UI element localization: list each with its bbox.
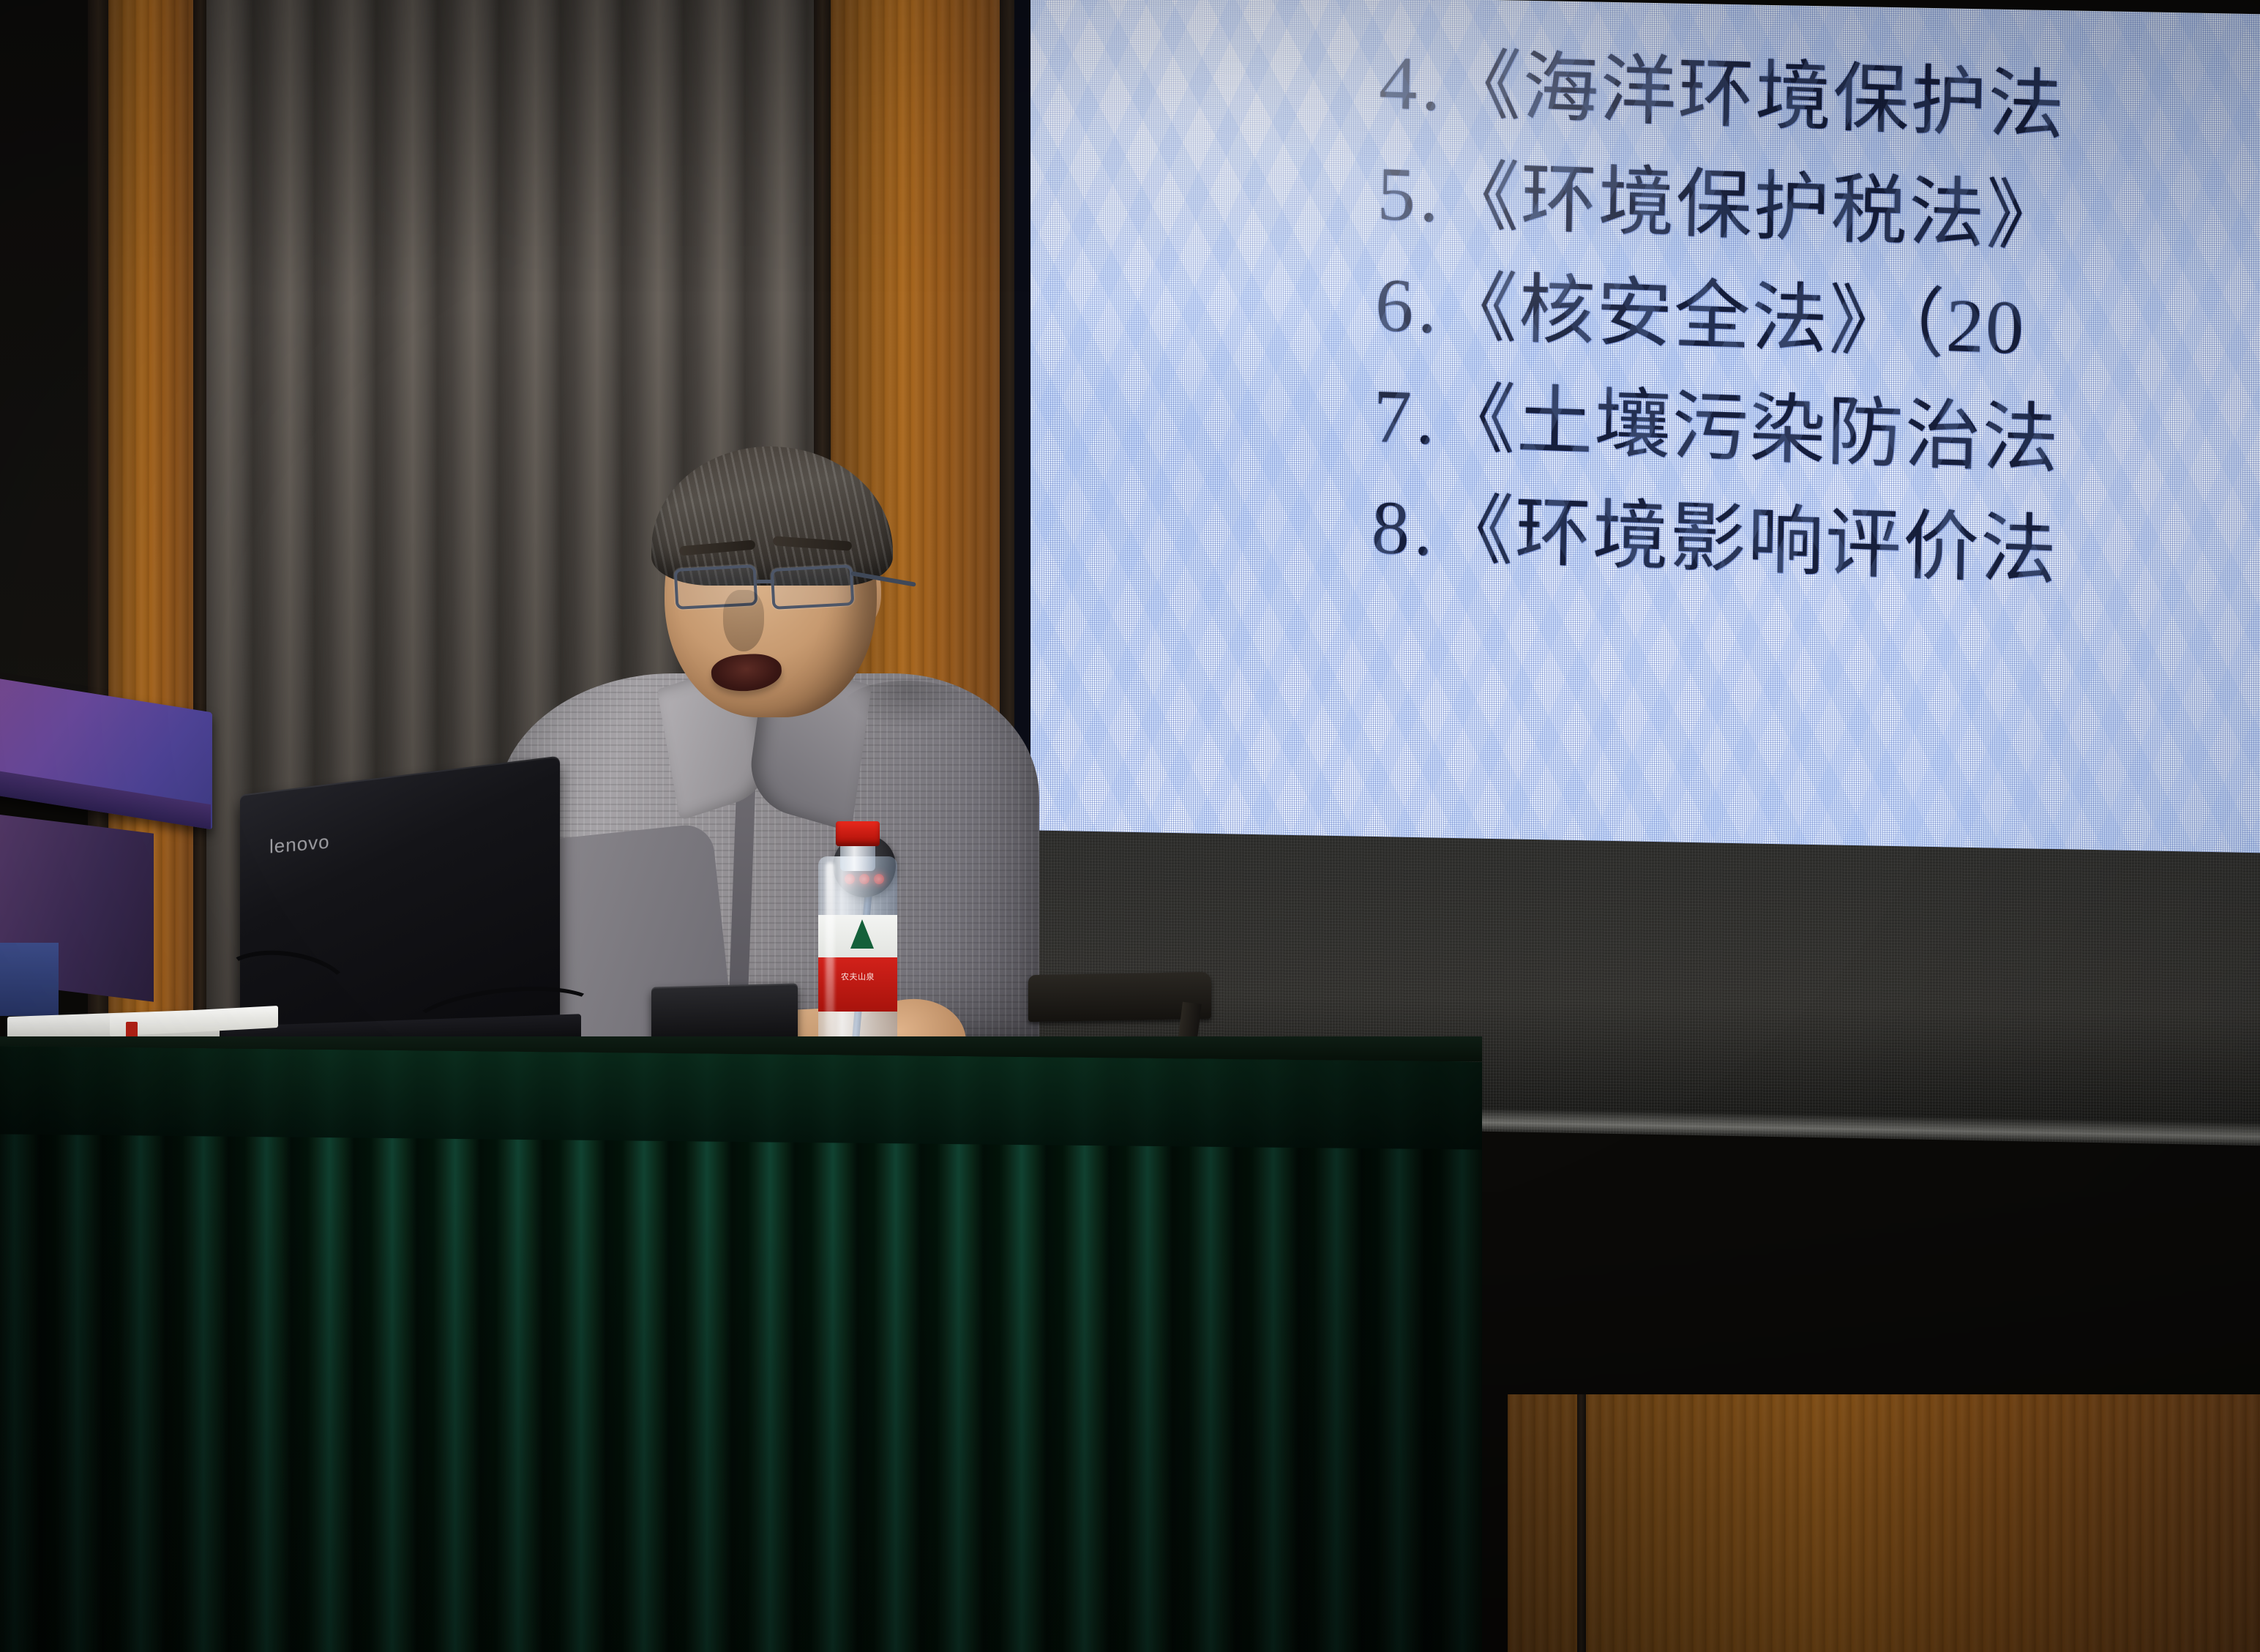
lectern xyxy=(0,694,227,1001)
bottle-cap xyxy=(836,821,880,846)
mountain-logo-icon xyxy=(850,919,874,949)
table-skirt xyxy=(0,1046,1482,1652)
bottle-highlight xyxy=(826,862,834,1045)
seated-speaker xyxy=(512,454,1039,1054)
slide-line-6-number: 6. xyxy=(1374,263,1442,349)
paper-clip-icon xyxy=(126,1022,138,1038)
eyeglasses-icon xyxy=(665,564,884,615)
chin-shadow xyxy=(845,681,969,728)
slide-line-4-number: 4. xyxy=(1379,40,1446,127)
slide-line-5-number: 5. xyxy=(1377,152,1444,238)
slide-line-3-number: 3. xyxy=(1380,0,1448,15)
wood-panel-lower-right xyxy=(1508,1394,2260,1652)
wall-seam-lower-right xyxy=(1577,1394,1586,1652)
speaker-nose xyxy=(723,590,764,651)
wall-shadow-left xyxy=(0,0,91,732)
eyeglass-lens-right xyxy=(771,564,855,610)
slide-content-list: 3. 4.《海洋环境保护法 5.《环境保护税法》 6.《核安全法》（20 7.《… xyxy=(1370,0,2260,643)
lecture-hall-scene: 3. 4.《海洋环境保护法 5.《环境保护税法》 6.《核安全法》（20 7.《… xyxy=(0,0,2260,1652)
slide-line-8-number: 8. xyxy=(1371,485,1438,572)
eyeglass-temple xyxy=(850,571,916,587)
eyeglass-bridge xyxy=(757,580,774,583)
slide-line-7-number: 7. xyxy=(1373,374,1440,460)
lectern-foot xyxy=(0,943,59,1016)
water-bottle[interactable]: 农夫山泉 xyxy=(818,821,897,1050)
